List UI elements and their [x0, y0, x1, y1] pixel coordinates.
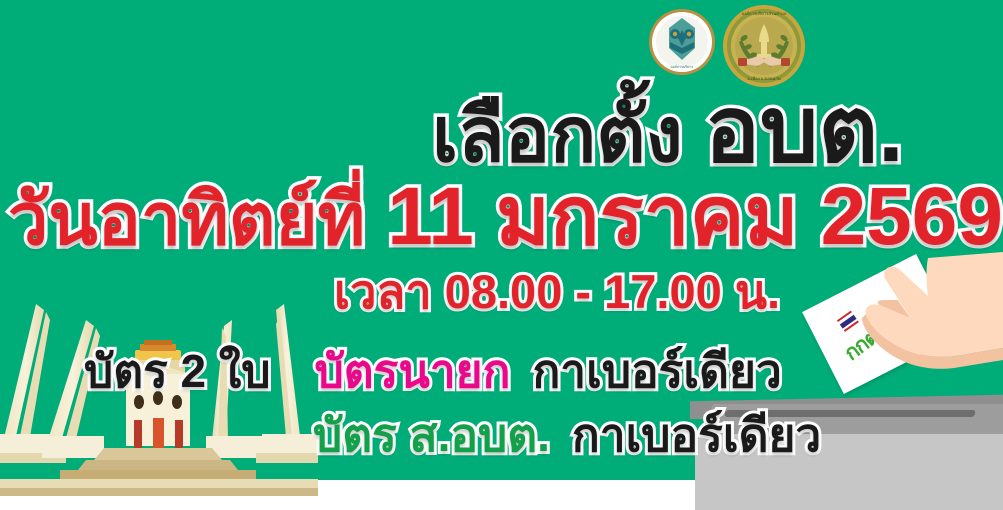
ballot-instruction-mayor: กาเบอร์เดียว: [532, 345, 781, 397]
ballot-count-label: บัตร 2 ใบ: [84, 345, 271, 397]
time-dash: -: [575, 265, 591, 318]
subdistrict-administrative-organization-seal: องค์การบริหารส่วนตำบล อ.เมือง จ.ขอนแก่น: [722, 4, 806, 88]
emblem-group: องค์การบริหาร: [640, 4, 820, 88]
garuda-emblem: องค์การบริหาร: [648, 8, 716, 76]
ballot-row-two: บัตร ส.อบต.กาเบอร์เดียว: [313, 412, 821, 458]
date-line: วันอาทิตย์ที่11มกราคม2569: [8, 176, 1003, 258]
hand-icon: [806, 252, 1003, 422]
svg-text:องค์การบริหารส่วนตำบล: องค์การบริหารส่วนตำบล: [742, 11, 787, 16]
time-line: เวลา 08.00 - 17.00 น.: [334, 268, 780, 315]
svg-text:องค์การบริหาร: องค์การบริหาร: [671, 65, 694, 69]
democracy-monument: [0, 298, 318, 498]
date-month: มกราคม: [496, 171, 799, 262]
sao-seal-icon: องค์การบริหารส่วนตำบล อ.เมือง จ.ขอนแก่น: [722, 4, 806, 88]
ballot-type-mayor: บัตรนายก: [315, 345, 511, 397]
garuda-emblem-icon: องค์การบริหาร: [648, 8, 716, 76]
ballot-type-council: บัตร ส.อบต.: [313, 409, 550, 461]
hand-with-ballot: กกต: [806, 252, 1003, 422]
date-day: 11: [387, 171, 474, 262]
page-title: เลือกตั้งอบต.: [432, 84, 904, 176]
time-unit: น.: [735, 265, 780, 318]
time-end: 17.00: [604, 265, 722, 318]
headline-emphasis: อบต.: [705, 79, 904, 181]
time-start: 08.00: [445, 265, 563, 318]
ballot-instruction-council: กาเบอร์เดียว: [572, 409, 821, 461]
date-prefix: วันอาทิตย์ที่: [8, 180, 365, 260]
ballot-row-one: บัตร 2 ใบบัตรนายกกาเบอร์เดียว: [84, 348, 782, 394]
date-year: 2569: [821, 171, 1003, 262]
election-poster: กกต: [0, 0, 1003, 510]
headline-lead: เลือกตั้ง: [432, 93, 683, 178]
time-label: เวลา: [334, 265, 432, 318]
democracy-monument-svg: [0, 298, 318, 498]
